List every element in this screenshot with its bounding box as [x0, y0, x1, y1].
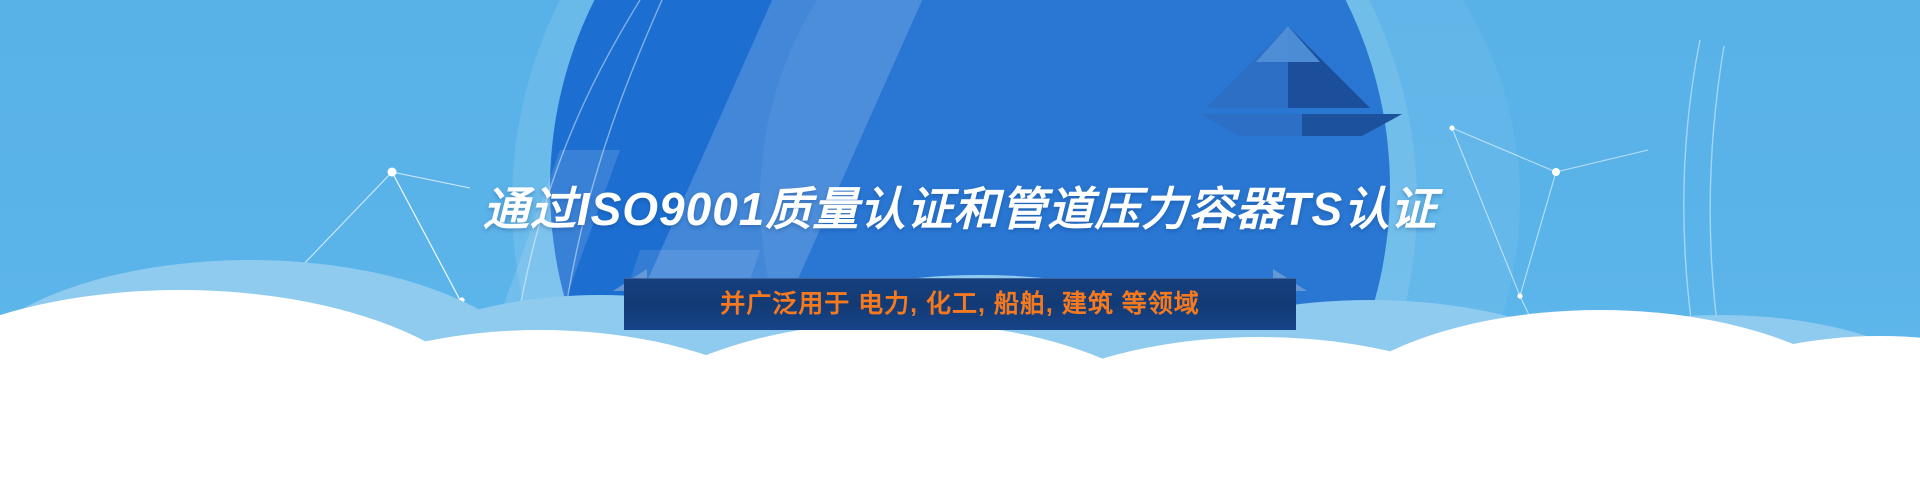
mountain-triangle-logo: [1192, 18, 1412, 138]
ribbon-bar: 并广泛用于 电力, 化工, 船舶, 建筑 等领域: [624, 278, 1296, 330]
page-title: 通过ISO9001质量认证和管道压力容器TS认证: [0, 186, 1920, 232]
subtitle-ribbon: 并广泛用于 电力, 化工, 船舶, 建筑 等领域: [624, 278, 1296, 330]
subtitle-text: 并广泛用于 电力, 化工, 船舶, 建筑 等领域: [720, 292, 1200, 317]
promo-banner: 通过ISO9001质量认证和管道压力容器TS认证 并广泛用于 电力, 化工, 船…: [0, 0, 1920, 480]
